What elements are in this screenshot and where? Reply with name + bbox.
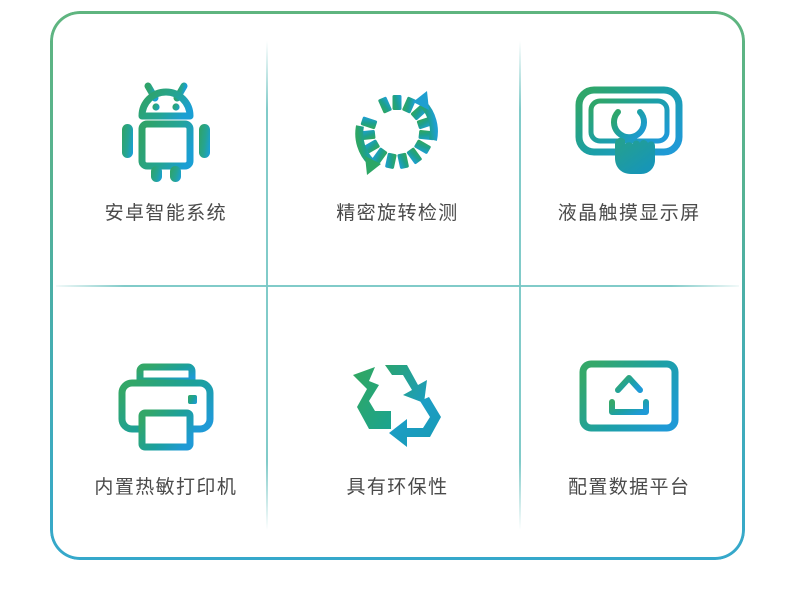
feature-label: 液晶触摸显示屏	[558, 204, 701, 223]
rotation-detection-icon	[341, 74, 453, 190]
feature-grid: 安卓智能系统	[50, 11, 745, 560]
feature-label: 精密旋转检测	[336, 204, 458, 223]
feature-cell-data-platform[interactable]: 配置数据平台	[513, 286, 745, 561]
feature-cell-printer[interactable]: 内置热敏打印机	[50, 286, 282, 561]
feature-cell-rotation[interactable]: 精密旋转检测	[282, 11, 514, 286]
android-robot-icon	[118, 74, 214, 190]
monitor-upload-icon	[575, 348, 683, 464]
feature-label: 具有环保性	[346, 478, 448, 497]
page-root: 安卓智能系统	[0, 0, 790, 612]
feature-cell-recycle[interactable]: 具有环保性	[282, 286, 514, 561]
feature-cell-android[interactable]: 安卓智能系统	[50, 11, 282, 286]
feature-label: 安卓智能系统	[105, 204, 227, 223]
feature-label: 内置热敏打印机	[94, 478, 237, 497]
touchscreen-icon	[573, 74, 685, 190]
thermal-printer-icon	[114, 348, 218, 464]
feature-label: 配置数据平台	[568, 478, 690, 497]
feature-panel: 安卓智能系统	[50, 11, 745, 560]
feature-cell-touchscreen[interactable]: 液晶触摸显示屏	[513, 11, 745, 286]
recycle-icon	[345, 348, 449, 464]
